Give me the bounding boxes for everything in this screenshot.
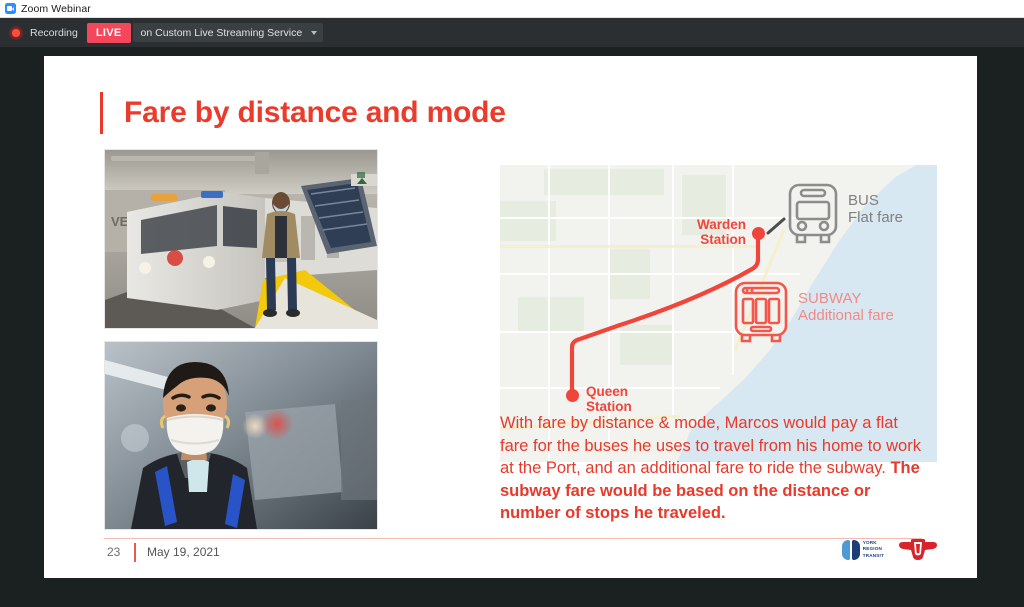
map-greenspace <box>544 169 664 195</box>
body-regular-text: With fare by distance & mode, Marcos wou… <box>500 414 921 477</box>
warden-station-marker[interactable] <box>752 227 765 240</box>
live-badge: LIVE <box>87 23 131 43</box>
slide-title: Fare by distance and mode <box>124 96 506 130</box>
slide-body-text: With fare by distance & mode, Marcos wou… <box>500 412 925 525</box>
window-titlebar: Zoom Webinar <box>0 0 1024 18</box>
masked-commuter-illustration <box>105 342 377 529</box>
chevron-down-icon <box>311 31 317 35</box>
subway-icon <box>732 279 790 345</box>
yrt-wordmark: YORK REGION TRANSIT <box>863 540 884 560</box>
subway-platform-photo: VEST <box>104 149 378 329</box>
recording-label: Recording <box>30 27 78 39</box>
slide-title-row: Fare by distance and mode <box>100 92 506 134</box>
subway-platform-illustration: VEST <box>105 150 377 328</box>
map-road <box>500 273 800 275</box>
subway-mode-subtitle: Additional fare <box>798 308 894 325</box>
slide-page-number: 23 <box>107 545 120 559</box>
bus-icon <box>786 181 840 247</box>
yrt-mark-icon <box>842 540 860 560</box>
footer-divider-rule <box>104 538 922 539</box>
masked-commuter-photo <box>104 341 378 530</box>
yrt-line2: REGION <box>863 546 884 553</box>
slide-date: May 19, 2021 <box>147 545 220 559</box>
subway-mode-title: SUBWAY <box>798 291 894 308</box>
map-road <box>672 165 674 415</box>
subway-mode-label: SUBWAY Additional fare <box>798 291 894 325</box>
title-accent-bar <box>100 92 103 134</box>
bus-mode-label: BUS Flat fare <box>848 193 903 227</box>
map-road <box>500 331 770 333</box>
recording-toolbar: Recording LIVE on Custom Live Streaming … <box>0 18 1024 47</box>
warden-line1: Warden <box>697 217 746 232</box>
footer-logos: YORK REGION TRANSIT <box>842 538 939 561</box>
queen-station-marker[interactable] <box>566 389 579 402</box>
queen-station-label: Queen Station <box>586 384 706 414</box>
map-greenspace <box>518 297 584 331</box>
live-stream-service-dropdown[interactable]: on Custom Live Streaming Service <box>133 23 324 42</box>
bus-mode-subtitle: Flat fare <box>848 210 903 227</box>
zoom-camera-icon <box>5 3 16 14</box>
record-dot-icon[interactable] <box>9 26 23 40</box>
yrt-line3: TRANSIT <box>863 553 884 560</box>
york-region-transit-logo: YORK REGION TRANSIT <box>842 540 884 560</box>
live-stream-service-label: on Custom Live Streaming Service <box>141 27 303 39</box>
queen-line1: Queen <box>586 384 628 399</box>
window-title: Zoom Webinar <box>21 3 91 15</box>
presentation-slide: Fare by distance and mode VEST <box>44 56 977 578</box>
warden-station-label: Warden Station <box>628 217 746 247</box>
ttc-logo <box>897 538 939 561</box>
bus-mode-title: BUS <box>848 193 903 210</box>
warden-line2: Station <box>700 232 746 247</box>
footer-accent-divider <box>134 543 136 562</box>
